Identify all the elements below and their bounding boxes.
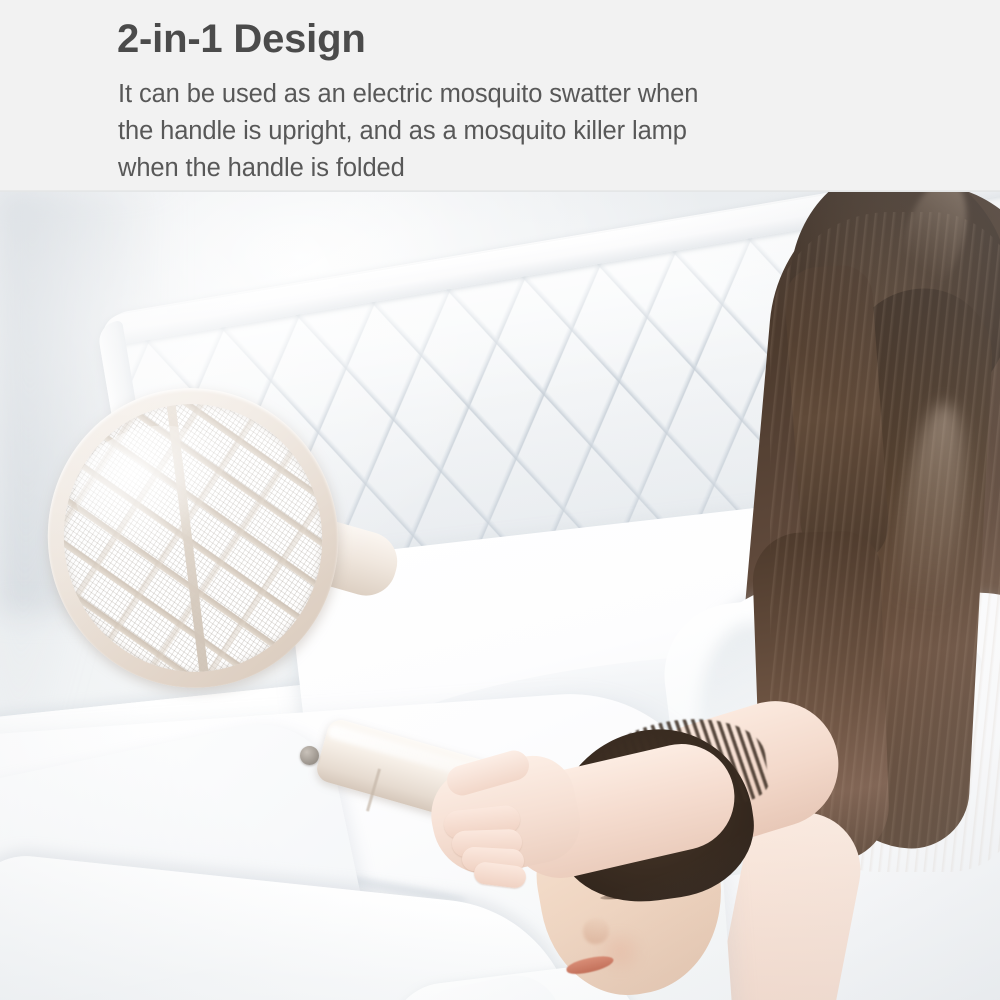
banner-description: It can be used as an electric mosquito s…	[118, 76, 918, 187]
banner-description-line-2: the handle is upright, and as a mosquito…	[118, 113, 918, 150]
woman-grip	[0, 192, 1000, 1000]
banner-description-line-1: It can be used as an electric mosquito s…	[118, 76, 918, 113]
banner-heading: 2-in-1 Design	[117, 16, 366, 62]
text-banner: 2-in-1 Design It can be used as an elect…	[0, 0, 1000, 192]
product-feature-image: 2-in-1 Design It can be used as an elect…	[0, 0, 1000, 1000]
banner-description-line-3: when the handle is folded	[118, 150, 918, 187]
lifestyle-photo	[0, 192, 1000, 1000]
